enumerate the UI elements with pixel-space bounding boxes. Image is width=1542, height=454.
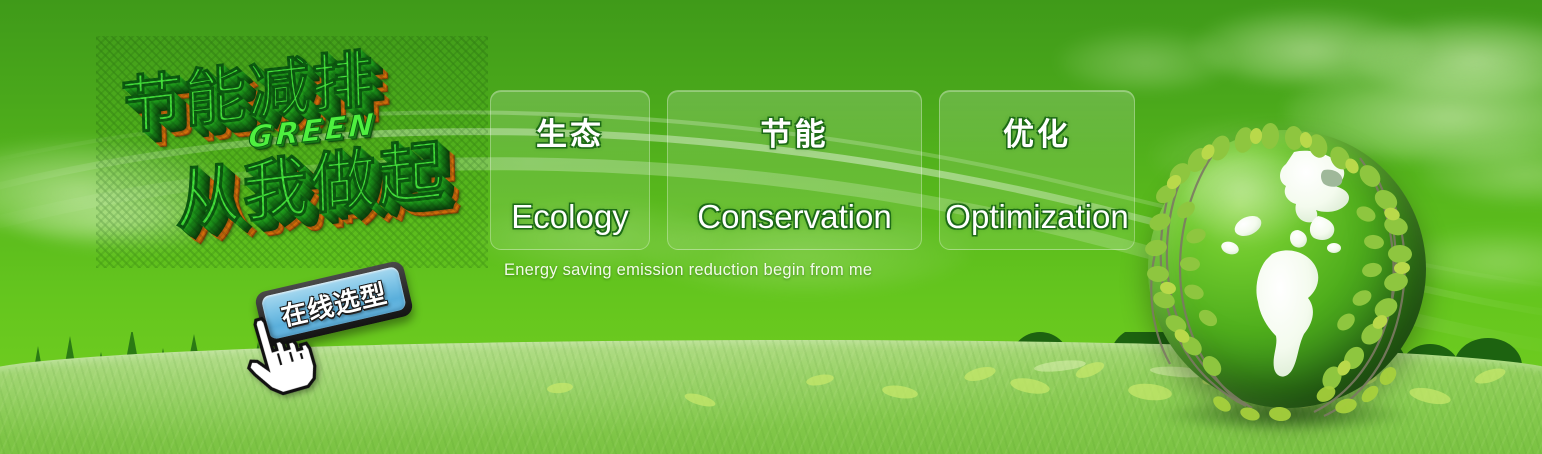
cloud-icon <box>1350 18 1542 96</box>
feature-card-en-label: Conservation <box>697 198 891 236</box>
title-artwork: 节能减排 GREEN 从我做起 <box>96 36 488 268</box>
feature-card-cn-label: 节能 <box>761 109 829 154</box>
feature-card-en-label: Optimization <box>945 198 1128 236</box>
online-selection-label: 在线选型 <box>277 273 391 333</box>
cloud-icon <box>1420 140 1542 202</box>
feature-card-en-label: Ecology <box>511 198 628 236</box>
feature-card-cn-label: 生态 <box>536 109 604 154</box>
cloud-icon <box>1195 10 1425 84</box>
ivy-vines-overlay <box>1130 122 1436 428</box>
feature-card-optimization[interactable]: 优化 Optimization <box>939 90 1135 250</box>
banner-tagline: Energy saving emission reduction begin f… <box>504 261 872 280</box>
leafy-earth-globe <box>1130 122 1436 428</box>
cloud-icon <box>1058 30 1233 90</box>
feature-card-ecology[interactable]: 生态 Ecology <box>490 90 650 250</box>
online-selection-button[interactable]: 在线选型 <box>254 260 415 349</box>
feature-card-cn-label: 优化 <box>1003 109 1071 154</box>
green-energy-banner: 节能减排 GREEN 从我做起 在线选型 生态 Ecology 节能 Conse… <box>0 0 1542 454</box>
feature-card-conservation[interactable]: 节能 Conservation <box>667 90 922 250</box>
feature-cards: 生态 Ecology 节能 Conservation 优化 Optimizati… <box>490 90 1135 250</box>
